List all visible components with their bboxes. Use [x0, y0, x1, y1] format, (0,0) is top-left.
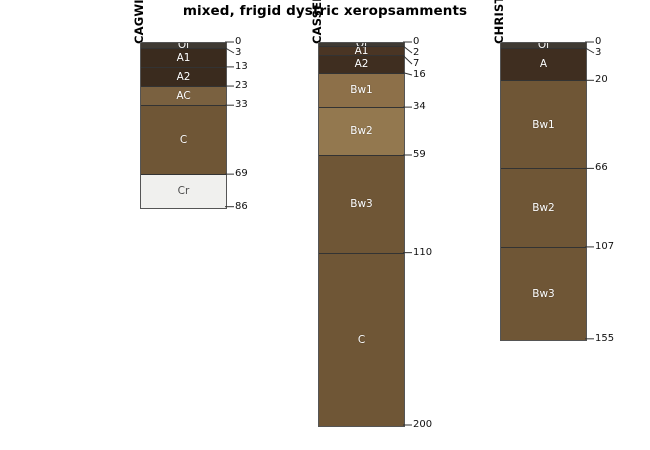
depth-tick-leader — [585, 0, 607, 450]
horizon-bw2: Bw2 — [501, 169, 586, 248]
pedon-name-label: CHRISTOPHER — [492, 0, 506, 44]
horizon-a: A — [501, 49, 586, 82]
depth-label: 0 — [595, 37, 601, 47]
soil-profile-christopher: CHRISTOPHEROiABw1Bw2Bw3032066107155 — [0, 0, 650, 450]
depth-tick-leader — [585, 0, 607, 450]
depth-label: 3 — [595, 48, 601, 58]
depth-tick-leader — [585, 0, 607, 450]
horizon-bw3: Bw3 — [501, 248, 586, 340]
depth-label: 107 — [595, 242, 614, 252]
soil-profile-plot: mixed, frigid dystric xeropsamments CAGW… — [0, 0, 650, 450]
depth-tick-leader — [585, 0, 607, 450]
depth-label: 155 — [595, 334, 614, 344]
depth-label: 66 — [595, 163, 608, 173]
horizon-label: Bw2 — [532, 203, 554, 214]
depth-tick-leader — [585, 0, 607, 450]
horizon-label: Bw3 — [532, 289, 554, 300]
horizon-bw1: Bw1 — [501, 81, 586, 169]
profile-column: OiABw1Bw2Bw3 — [500, 42, 587, 341]
depth-tick-leader — [585, 0, 607, 450]
horizon-label: A — [540, 59, 547, 70]
depth-label: 20 — [595, 75, 608, 85]
horizon-label: Bw1 — [532, 120, 554, 131]
